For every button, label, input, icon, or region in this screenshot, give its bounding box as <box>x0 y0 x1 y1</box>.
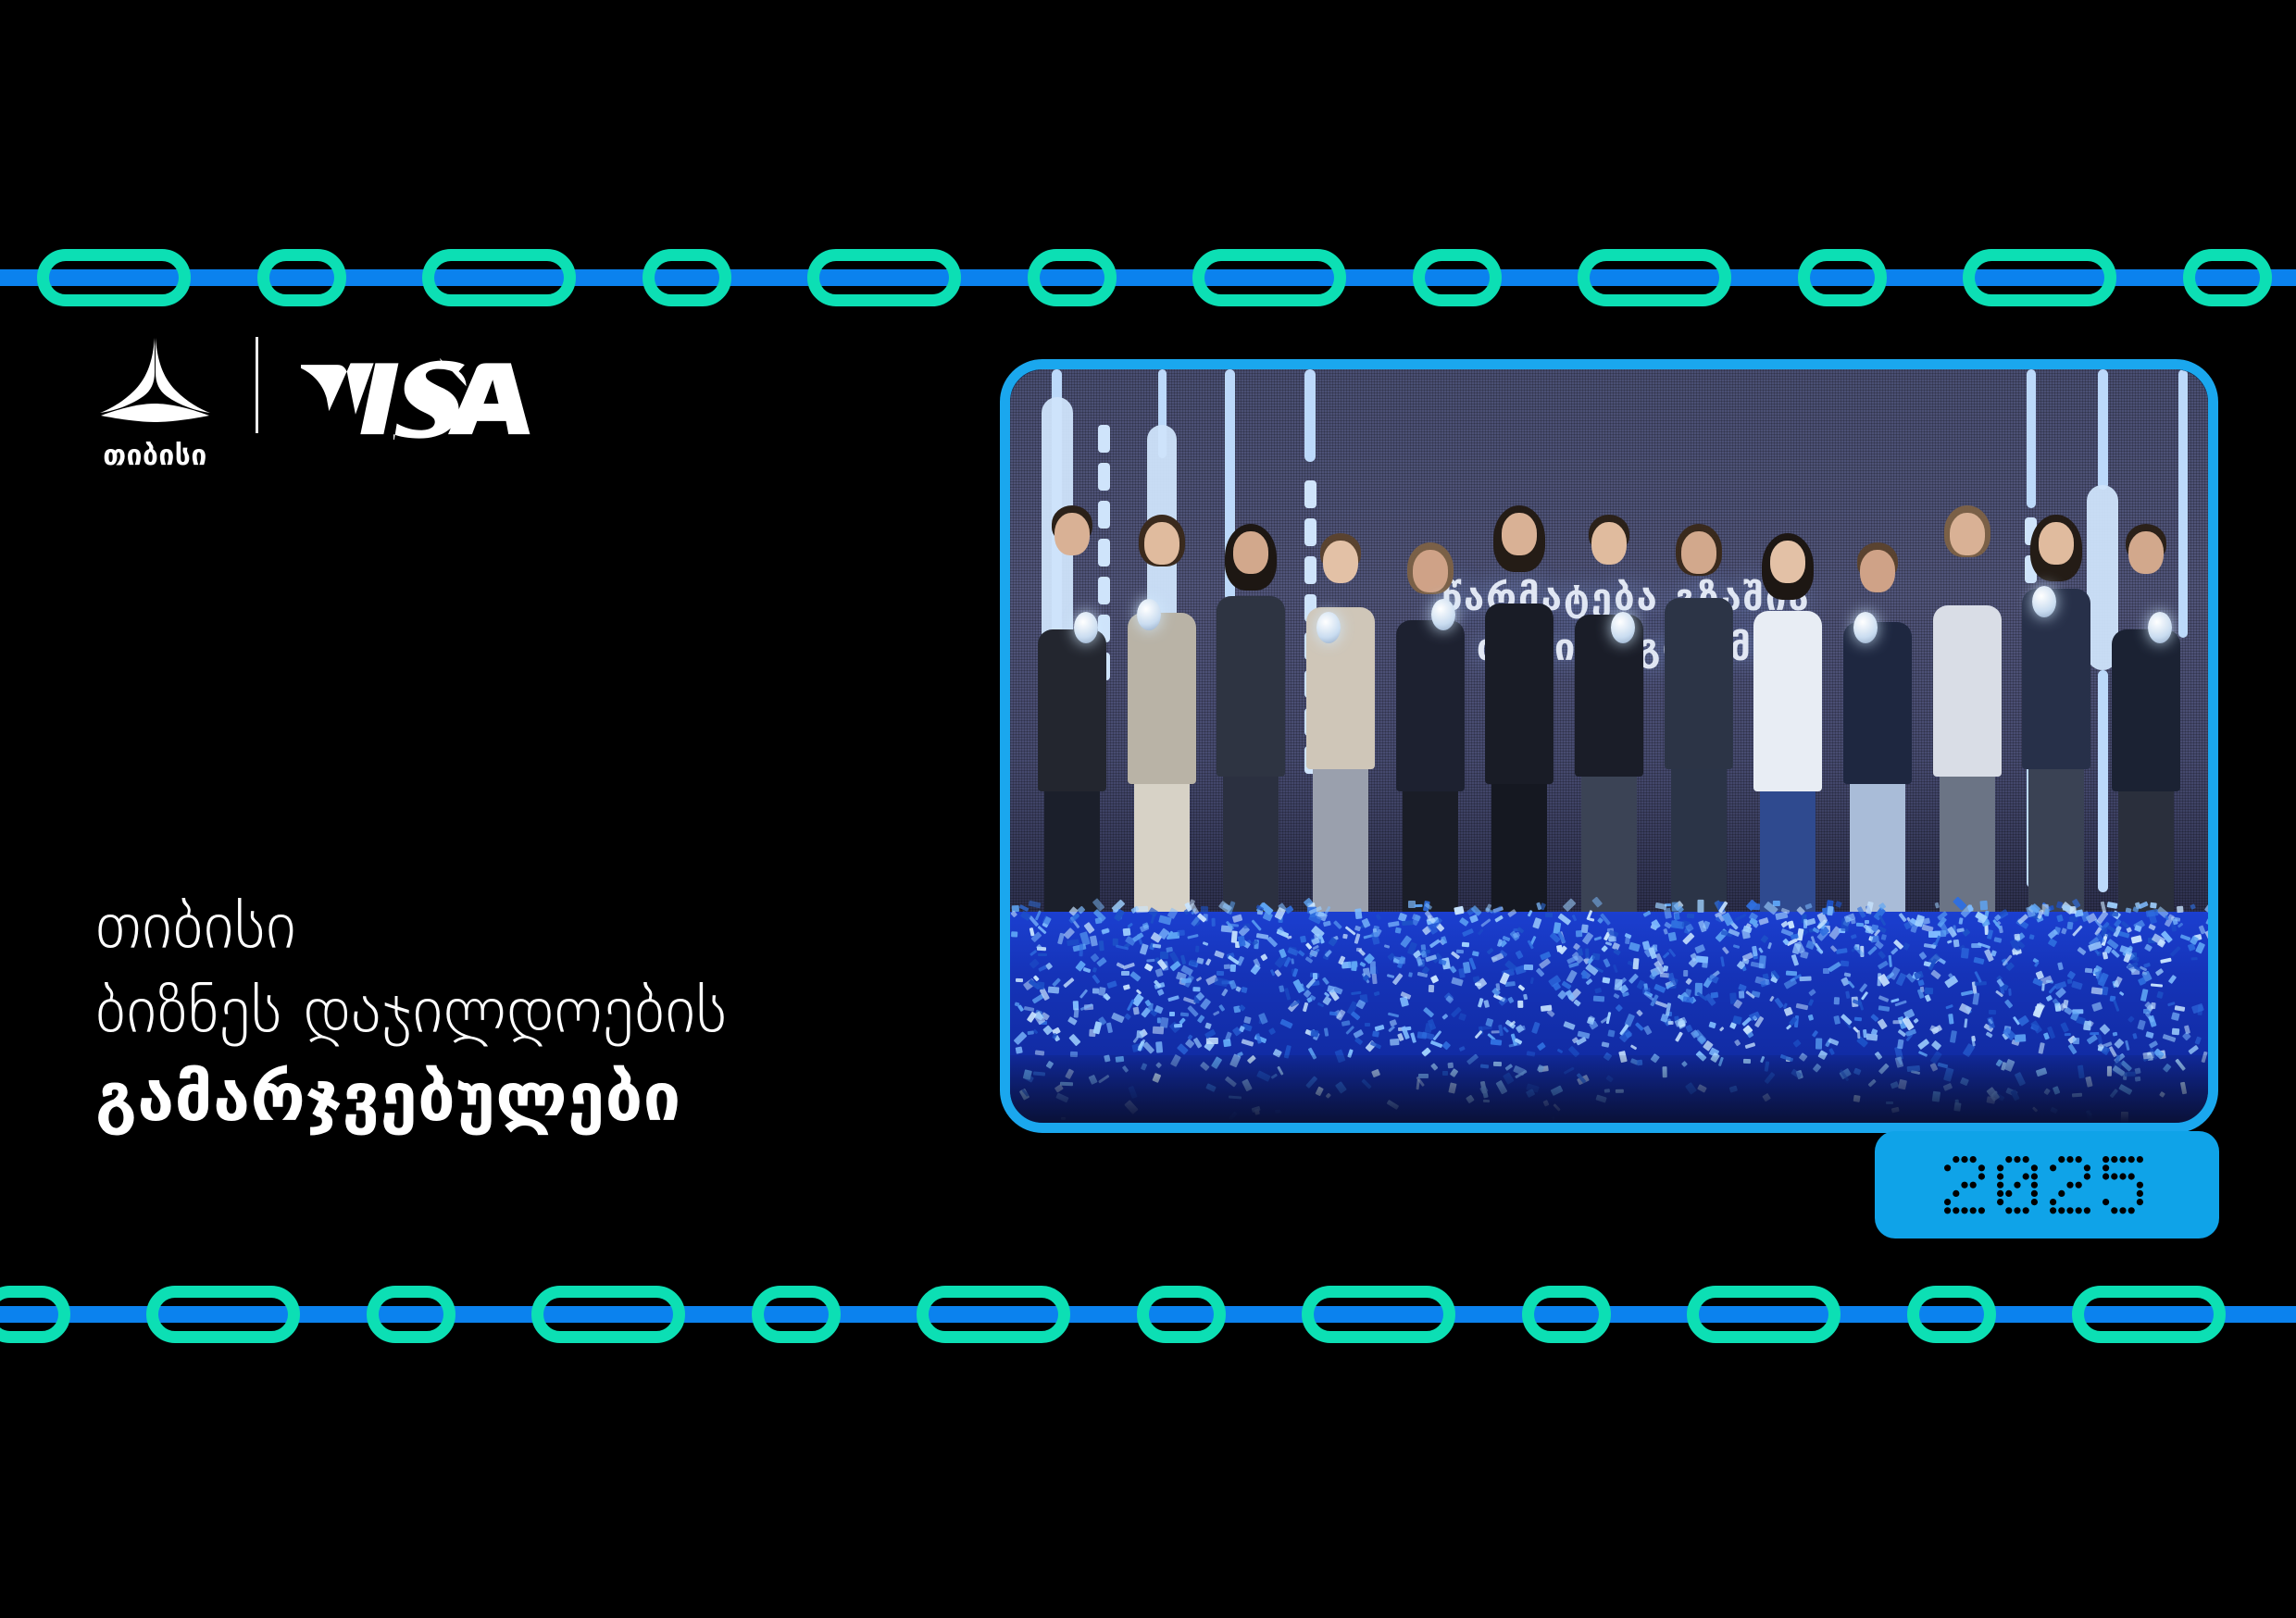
confetti-piece <box>1213 1010 1220 1015</box>
confetti-piece <box>1923 943 1936 949</box>
confetti-piece <box>1978 942 1990 949</box>
confetti-piece <box>1052 977 1061 987</box>
confetti-piece <box>1812 1030 1818 1038</box>
confetti-piece <box>1388 1026 1395 1033</box>
confetti-piece <box>1458 1013 1466 1021</box>
confetti-piece <box>1653 984 1666 993</box>
confetti-piece <box>1480 918 1491 927</box>
confetti-piece <box>1774 997 1784 1008</box>
confetti-piece <box>1878 951 1887 959</box>
confetti-piece <box>1168 908 1179 919</box>
person-torso <box>1396 620 1465 791</box>
confetti-piece <box>1738 984 1747 991</box>
confetti-piece <box>1674 913 1679 919</box>
confetti-piece <box>1441 936 1447 944</box>
confetti-piece <box>1662 928 1667 935</box>
confetti-piece <box>1107 980 1117 989</box>
confetti-piece <box>1629 942 1641 952</box>
chain-link-narrow <box>2183 249 2272 306</box>
confetti-piece <box>1388 1013 1399 1018</box>
confetti-piece <box>1613 993 1619 999</box>
confetti-piece <box>1287 935 1292 939</box>
confetti-piece <box>1687 914 1694 919</box>
confetti-piece <box>1531 1021 1541 1033</box>
confetti-piece <box>1572 915 1578 921</box>
confetti-piece <box>1028 1031 1034 1036</box>
confetti-piece <box>1890 948 1898 955</box>
confetti-piece <box>1241 986 1248 992</box>
confetti-piece <box>1791 954 1799 966</box>
confetti-piece <box>2083 1021 2091 1031</box>
person-head <box>1233 531 1268 574</box>
confetti-piece <box>1370 961 1377 974</box>
confetti-piece <box>1462 942 1469 947</box>
confetti-piece <box>1953 939 1959 947</box>
confetti-piece <box>1591 897 1603 908</box>
confetti-piece <box>1655 1001 1668 1008</box>
confetti-piece <box>1211 918 1216 927</box>
confetti-piece <box>1739 991 1745 999</box>
confetti-piece <box>1429 939 1441 948</box>
confetti-piece <box>1155 1041 1163 1053</box>
confetti-piece <box>1816 1038 1822 1049</box>
confetti-piece <box>2156 968 2165 976</box>
year-badge-dots <box>1939 1149 2155 1221</box>
confetti-piece <box>2017 1015 2028 1027</box>
confetti-piece <box>1355 909 1363 920</box>
chain-link-narrow <box>0 1286 70 1343</box>
confetti-piece <box>1267 937 1278 949</box>
confetti-piece <box>1451 977 1464 987</box>
confetti-piece <box>1441 1041 1451 1051</box>
confetti-piece <box>1169 961 1180 972</box>
confetti-piece <box>1799 977 1811 981</box>
chain-link-wide <box>1302 1286 1455 1343</box>
confetti-piece <box>1866 1033 1878 1040</box>
person-head <box>1950 513 1985 555</box>
confetti-piece <box>1187 1005 1199 1017</box>
confetti-piece <box>1416 1031 1427 1039</box>
confetti-piece <box>1160 952 1168 959</box>
confetti-piece <box>1013 1031 1027 1045</box>
person-head <box>1502 513 1537 555</box>
confetti-piece <box>1029 900 1042 908</box>
confetti-piece <box>1518 985 1526 991</box>
headline-line-3: გამარჯვებულები <box>95 1054 728 1141</box>
confetti-piece <box>1154 968 1164 977</box>
confetti-piece <box>1029 950 1037 956</box>
confetti-piece <box>1298 950 1306 957</box>
chain-link-wide <box>1192 249 1346 306</box>
confetti-piece <box>1121 971 1129 976</box>
confetti-piece <box>1816 947 1823 954</box>
confetti-piece <box>1316 1002 1324 1008</box>
confetti-piece <box>1893 1020 1903 1024</box>
confetti-piece <box>1537 1042 1546 1051</box>
confetti-piece <box>1925 988 1933 995</box>
confetti-piece <box>1401 920 1413 925</box>
chain-gap <box>1455 1314 1522 1315</box>
confetti-piece <box>1322 977 1329 985</box>
confetti-piece <box>2065 1033 2071 1036</box>
confetti-piece <box>1528 910 1533 917</box>
chain-link-narrow <box>1028 249 1117 306</box>
confetti-piece <box>2190 903 2196 910</box>
confetti-piece <box>1888 954 1891 967</box>
chain-gap <box>731 278 807 279</box>
confetti-piece <box>1454 906 1464 915</box>
confetti-piece <box>1655 902 1667 910</box>
confetti-piece <box>1011 932 1017 938</box>
confetti-piece <box>2151 983 2163 987</box>
confetti-piece <box>1204 1023 1212 1030</box>
confetti-piece <box>1029 959 1040 969</box>
confetti-piece <box>2148 923 2155 930</box>
confetti-piece <box>1675 1031 1683 1042</box>
confetti-piece <box>2171 1012 2180 1020</box>
confetti-piece <box>1092 975 1101 984</box>
confetti-piece <box>1280 1018 1293 1028</box>
confetti-piece <box>2113 1000 2120 1013</box>
person-torso <box>2022 589 2090 769</box>
confetti-piece <box>2177 905 2184 913</box>
confetti-piece <box>1828 905 1834 915</box>
confetti-piece <box>1564 1021 1577 1030</box>
confetti-piece <box>1460 917 1470 927</box>
confetti-piece <box>2098 1034 2103 1044</box>
confetti-piece <box>1696 955 1708 963</box>
confetti-piece <box>1898 1029 1906 1037</box>
confetti-piece <box>1180 955 1186 965</box>
confetti-piece <box>1153 1026 1164 1033</box>
confetti-piece <box>1517 1001 1523 1009</box>
confetti-piece <box>1809 989 1817 996</box>
tbc-wordmark: თიბისი <box>103 442 207 470</box>
confetti-piece <box>1291 959 1294 965</box>
confetti-piece <box>1393 956 1406 964</box>
tbc-logo: თიბისი <box>97 335 213 470</box>
confetti-piece <box>1878 915 1887 926</box>
confetti-piece <box>1268 1027 1276 1035</box>
confetti-piece <box>1529 977 1534 984</box>
confetti-piece <box>1751 962 1765 969</box>
stage-floor-shadow <box>1010 1055 2208 1123</box>
confetti-piece <box>2205 918 2208 927</box>
confetti-piece <box>1581 971 1586 979</box>
chain-gap <box>576 278 643 279</box>
confetti-piece <box>2063 904 2071 911</box>
confetti-piece <box>1376 914 1381 920</box>
confetti-piece <box>1492 906 1504 915</box>
confetti-piece <box>1423 1007 1434 1018</box>
chain-link-wide <box>807 249 961 306</box>
confetti-piece <box>1878 1005 1889 1011</box>
confetti-piece <box>1038 965 1047 971</box>
confetti-piece <box>1090 936 1098 947</box>
confetti-piece <box>1408 972 1413 977</box>
person-torso <box>1665 598 1733 769</box>
confetti-piece <box>2091 987 2103 994</box>
page-title: თიბისი ბიზნეს დაჯილდოების გამარჯვებულები <box>95 884 728 1141</box>
chain-gap <box>1226 1314 1302 1315</box>
poster-canvas: თიბისი თიბისი ბიზნეს დაჯილდოების გამარჯვ… <box>0 0 2296 1618</box>
confetti-piece <box>1735 914 1747 922</box>
confetti-piece <box>1144 963 1154 971</box>
person-head <box>1144 522 1179 565</box>
confetti-piece <box>1458 1046 1465 1052</box>
chain-gap <box>1346 278 1413 279</box>
confetti-piece <box>2099 1024 2110 1035</box>
tbc-triangle-icon <box>97 335 213 431</box>
confetti-piece <box>1456 950 1464 953</box>
confetti-piece <box>2140 989 2148 1002</box>
confetti-piece <box>1574 999 1582 1006</box>
confetti-piece <box>1734 1039 1741 1047</box>
confetti-piece <box>2085 967 2092 973</box>
chain-link-narrow <box>1413 249 1502 306</box>
confetti-piece <box>1709 1022 1716 1028</box>
confetti-piece <box>1181 977 1192 983</box>
confetti-piece <box>1836 948 1848 954</box>
person-torso <box>1038 629 1106 791</box>
confetti-piece <box>2157 991 2164 999</box>
chain-decoration-top <box>0 236 2296 319</box>
brand-divider <box>256 337 258 433</box>
confetti-piece <box>1322 920 1330 927</box>
confetti-piece <box>1284 988 1291 1001</box>
confetti-piece <box>1643 1025 1653 1035</box>
confetti-piece <box>2072 1038 2078 1044</box>
confetti-piece <box>1694 944 1705 953</box>
confetti-piece <box>1643 910 1652 917</box>
confetti-piece <box>1989 1010 1996 1014</box>
person-head <box>1054 513 1090 555</box>
confetti-piece <box>2132 956 2139 962</box>
confetti-piece <box>1614 978 1622 990</box>
confetti-piece <box>1374 990 1380 996</box>
confetti-piece <box>1760 979 1770 988</box>
confetti-piece <box>1214 950 1224 958</box>
confetti-piece <box>1197 1014 1205 1024</box>
confetti-piece <box>1106 1023 1113 1034</box>
confetti-piece <box>2188 1044 2199 1054</box>
confetti-piece <box>1487 948 1494 954</box>
confetti-piece <box>1324 1027 1329 1037</box>
chain-link-narrow <box>1137 1286 1226 1343</box>
confetti-piece <box>1477 998 1483 1008</box>
confetti-piece <box>1961 948 1969 959</box>
confetti-piece <box>1354 1038 1363 1046</box>
confetti-piece <box>1148 1002 1154 1010</box>
confetti-piece <box>1524 965 1533 970</box>
confetti-piece <box>1934 902 1940 909</box>
confetti-piece <box>1847 981 1854 989</box>
confetti-piece <box>2048 938 2058 947</box>
confetti-piece <box>1241 1039 1254 1047</box>
confetti-piece <box>2172 1028 2180 1036</box>
confetti-piece <box>1804 903 1812 910</box>
confetti-piece <box>1946 940 1952 944</box>
confetti-piece <box>2144 944 2152 952</box>
confetti-piece <box>2044 909 2050 916</box>
confetti-piece <box>1788 920 1794 928</box>
confetti-piece <box>1224 965 1230 970</box>
chain-link-wide <box>531 1286 685 1343</box>
confetti-piece <box>2135 925 2142 932</box>
confetti-piece <box>1758 917 1768 926</box>
confetti-piece <box>1563 898 1576 911</box>
confetti-piece <box>1192 1037 1202 1048</box>
confetti-piece <box>1123 984 1130 990</box>
confetti-piece <box>2091 1002 2103 1013</box>
confetti-piece <box>1980 901 1989 910</box>
confetti-piece <box>1275 907 1286 920</box>
confetti-piece <box>1575 930 1582 937</box>
award-trophy <box>1316 612 1341 643</box>
chain-links-top <box>37 236 2272 319</box>
confetti-piece <box>1260 953 1268 962</box>
confetti-piece <box>1218 1004 1226 1013</box>
confetti-piece <box>2157 940 2166 949</box>
chain-link-narrow <box>752 1286 841 1343</box>
confetti-piece <box>1015 1047 1023 1054</box>
confetti-piece <box>1841 961 1850 967</box>
confetti-piece <box>1495 983 1500 990</box>
confetti-piece <box>1128 922 1133 927</box>
confetti-piece <box>2035 1004 2042 1011</box>
confetti-piece <box>1632 958 1639 969</box>
confetti-piece <box>1833 997 1840 1004</box>
confetti-piece <box>1485 1018 1493 1027</box>
confetti-piece <box>1914 1017 1919 1023</box>
confetti-piece <box>1769 996 1775 1002</box>
confetti-piece <box>1365 1023 1370 1027</box>
person-torso <box>1128 613 1196 784</box>
confetti-piece <box>1993 938 2002 943</box>
confetti-piece <box>1285 905 1293 914</box>
confetti-piece <box>1877 960 1888 969</box>
confetti-piece <box>1068 1033 1080 1045</box>
confetti-piece <box>1807 1014 1814 1021</box>
confetti-piece <box>1949 1030 1956 1043</box>
confetti-piece <box>1142 1041 1155 1054</box>
confetti-piece <box>1478 928 1484 935</box>
confetti-piece <box>1190 959 1197 965</box>
confetti-piece <box>1178 930 1185 936</box>
confetti-piece <box>1877 1019 1888 1031</box>
confetti-piece <box>2151 902 2157 909</box>
confetti-piece <box>1898 913 1907 923</box>
photo-inner: წარმატება გზაშია თიბისი გიზამს <box>1010 369 2208 1123</box>
confetti-piece <box>1102 928 1110 935</box>
chain-gap <box>1611 1314 1687 1315</box>
confetti-piece <box>1783 977 1797 989</box>
confetti-piece <box>1394 927 1401 934</box>
confetti-piece <box>2030 1020 2042 1034</box>
confetti-piece <box>2204 903 2208 915</box>
confetti-piece <box>1123 928 1131 937</box>
confetti-piece <box>1129 971 1141 982</box>
confetti-piece <box>2067 970 2076 978</box>
chain-link-wide <box>1578 249 1731 306</box>
confetti-piece <box>1719 1027 1725 1032</box>
confetti-piece <box>2138 1019 2146 1030</box>
confetti-piece <box>2047 929 2058 940</box>
confetti-piece <box>2072 926 2083 937</box>
confetti-piece <box>1524 993 1529 999</box>
person-torso <box>1217 596 1285 777</box>
confetti-piece <box>1038 953 1047 956</box>
confetti-piece <box>1187 933 1199 939</box>
confetti-piece <box>1857 1030 1861 1039</box>
confetti-piece <box>1516 1026 1526 1032</box>
confetti-piece <box>2125 1039 2130 1051</box>
confetti-piece <box>1578 948 1583 956</box>
confetti-piece <box>1196 976 1203 981</box>
confetti-piece <box>1581 931 1593 944</box>
confetti-piece <box>1823 968 1829 974</box>
confetti-piece <box>1868 945 1878 954</box>
confetti-piece <box>1429 1040 1442 1049</box>
confetti-piece <box>1432 1030 1441 1041</box>
confetti-piece <box>1103 993 1110 1001</box>
confetti-piece <box>1221 989 1229 997</box>
confetti-piece <box>1746 1031 1753 1039</box>
chain-link-wide <box>917 1286 1070 1343</box>
chain-gap <box>346 278 422 279</box>
confetti-piece <box>1341 1020 1351 1027</box>
confetti-piece <box>1917 1039 1929 1050</box>
confetti-piece <box>1607 1029 1616 1037</box>
confetti-piece <box>1828 961 1841 972</box>
confetti-piece <box>1917 979 1924 987</box>
chain-link-wide <box>1687 1286 1841 1343</box>
confetti-piece <box>2041 983 2045 990</box>
confetti-piece <box>1532 917 1541 929</box>
confetti-piece <box>1930 970 1941 980</box>
confetti-piece <box>1067 1016 1078 1025</box>
confetti-piece <box>1233 914 1243 922</box>
year-badge <box>1875 1131 2219 1238</box>
confetti-piece <box>1948 1014 1953 1024</box>
confetti-piece <box>2125 908 2131 914</box>
confetti-piece <box>1098 940 1104 952</box>
person-torso <box>1933 605 2002 777</box>
confetti-piece <box>1535 968 1544 977</box>
confetti-piece <box>1074 1008 1079 1017</box>
confetti-piece <box>1303 1002 1309 1013</box>
visa-wordmark-icon <box>301 358 549 440</box>
confetti-piece <box>2106 902 2117 909</box>
confetti-piece <box>1111 1013 1124 1023</box>
chain-link-narrow <box>1907 1286 1996 1343</box>
confetti-piece <box>1287 948 1298 957</box>
confetti-piece <box>1946 1004 1953 1009</box>
person-head <box>1681 531 1716 574</box>
confetti-piece <box>1663 965 1668 972</box>
chain-gap <box>841 1314 917 1315</box>
confetti-piece <box>1566 970 1577 984</box>
confetti-piece <box>1133 1006 1141 1014</box>
confetti-piece <box>2146 1031 2154 1039</box>
confetti-piece <box>1741 929 1751 940</box>
confetti-piece <box>2071 980 2082 989</box>
confetti-piece <box>1035 910 1042 920</box>
confetti-piece <box>1153 943 1161 948</box>
confetti-piece <box>1577 1031 1590 1039</box>
confetti-piece <box>2177 922 2184 927</box>
confetti-piece <box>1386 974 1393 978</box>
